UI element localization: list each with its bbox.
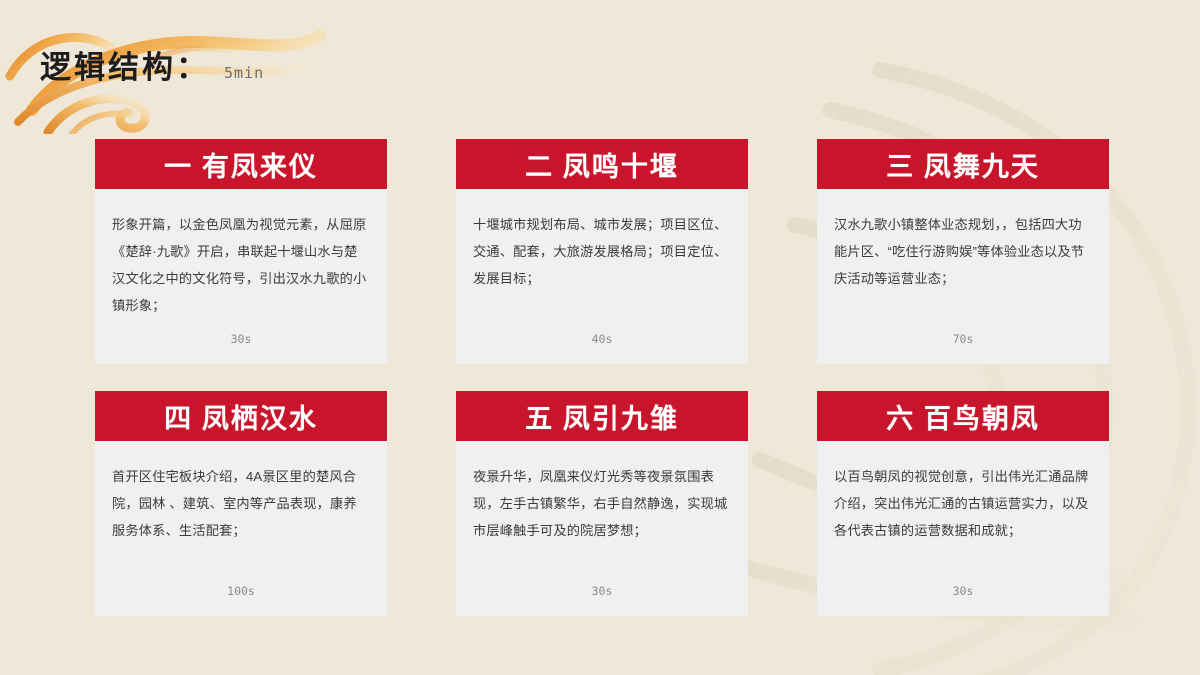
card-2-title: 二 凤鸣十堰: [525, 145, 679, 184]
card-6[interactable]: 六 百鸟朝凤 以百鸟朝凤的视觉创意，引出伟光汇通品牌介绍，突出伟光汇通的古镇运营…: [817, 391, 1109, 616]
card-6-duration: 30s: [834, 584, 1092, 606]
card-3-title: 三 凤舞九天: [886, 145, 1040, 184]
card-1-title: 一 有凤来仪: [164, 145, 318, 184]
card-5-text: 夜景升华，凤凰来仪灯光秀等夜景氛围表现，左手古镇繁华，右手自然静逸，实现城市层峰…: [473, 463, 731, 584]
card-4-text: 首开区住宅板块介绍，4A景区里的楚风合院，园林 、建筑、室内等产品表现，康养服务…: [112, 463, 370, 584]
card-6-title: 六 百鸟朝凤: [886, 397, 1040, 436]
card-2-body: 十堰城市规划布局、城市发展；项目区位、交通、配套，大旅游发展格局；项目定位、发展…: [456, 189, 748, 364]
card-1-duration: 30s: [112, 332, 370, 354]
card-2[interactable]: 二 凤鸣十堰 十堰城市规划布局、城市发展；项目区位、交通、配套，大旅游发展格局；…: [456, 139, 748, 364]
card-5-duration: 30s: [473, 584, 731, 606]
card-6-text: 以百鸟朝凤的视觉创意，引出伟光汇通品牌介绍，突出伟光汇通的古镇运营实力，以及各代…: [834, 463, 1092, 584]
card-4[interactable]: 四 凤栖汉水 首开区住宅板块介绍，4A景区里的楚风合院，园林 、建筑、室内等产品…: [95, 391, 387, 616]
card-4-duration: 100s: [112, 584, 370, 606]
card-3-text: 汉水九歌小镇整体业态规划，，包括四大功能片区、“吃住行游购娱”等体验业态以及节庆…: [834, 211, 1092, 332]
page-title: 逻辑结构：: [40, 42, 210, 87]
card-1[interactable]: 一 有凤来仪 形象开篇，以金色凤凰为视觉元素，从屈原《楚辞·九歌》开启，串联起十…: [95, 139, 387, 364]
card-3[interactable]: 三 凤舞九天 汉水九歌小镇整体业态规划，，包括四大功能片区、“吃住行游购娱”等体…: [817, 139, 1109, 364]
logic-structure-card-grid: 一 有凤来仪 形象开篇，以金色凤凰为视觉元素，从屈原《楚辞·九歌》开启，串联起十…: [95, 139, 1109, 616]
card-5[interactable]: 五 凤引九雏 夜景升华，凤凰来仪灯光秀等夜景氛围表现，左手古镇繁华，右手自然静逸…: [456, 391, 748, 616]
card-5-title: 五 凤引九雏: [525, 397, 679, 436]
card-1-header: 一 有凤来仪: [95, 139, 387, 189]
slide-header: 逻辑结构： 5min: [40, 42, 264, 87]
card-6-header: 六 百鸟朝凤: [817, 391, 1109, 441]
card-2-header: 二 凤鸣十堰: [456, 139, 748, 189]
card-3-body: 汉水九歌小镇整体业态规划，，包括四大功能片区、“吃住行游购娱”等体验业态以及节庆…: [817, 189, 1109, 364]
card-5-body: 夜景升华，凤凰来仪灯光秀等夜景氛围表现，左手古镇繁华，右手自然静逸，实现城市层峰…: [456, 441, 748, 616]
card-3-duration: 70s: [834, 332, 1092, 354]
card-2-text: 十堰城市规划布局、城市发展；项目区位、交通、配套，大旅游发展格局；项目定位、发展…: [473, 211, 731, 332]
slide-total-duration: 5min: [224, 64, 264, 82]
card-6-body: 以百鸟朝凤的视觉创意，引出伟光汇通品牌介绍，突出伟光汇通的古镇运营实力，以及各代…: [817, 441, 1109, 616]
card-4-title: 四 凤栖汉水: [164, 397, 318, 436]
card-5-header: 五 凤引九雏: [456, 391, 748, 441]
card-1-text: 形象开篇，以金色凤凰为视觉元素，从屈原《楚辞·九歌》开启，串联起十堰山水与楚汉文…: [112, 211, 370, 332]
card-1-body: 形象开篇，以金色凤凰为视觉元素，从屈原《楚辞·九歌》开启，串联起十堰山水与楚汉文…: [95, 189, 387, 364]
card-4-body: 首开区住宅板块介绍，4A景区里的楚风合院，园林 、建筑、室内等产品表现，康养服务…: [95, 441, 387, 616]
card-3-header: 三 凤舞九天: [817, 139, 1109, 189]
card-4-header: 四 凤栖汉水: [95, 391, 387, 441]
card-2-duration: 40s: [473, 332, 731, 354]
